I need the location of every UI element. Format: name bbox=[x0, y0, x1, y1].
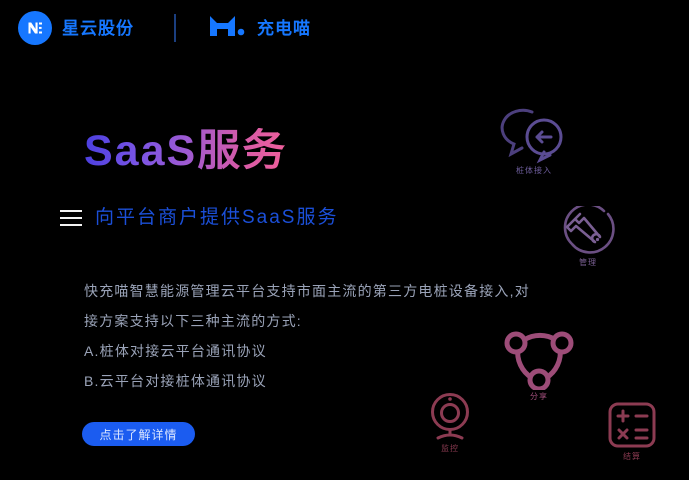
decoration-label: 结算 bbox=[623, 453, 641, 461]
brand-xingyun[interactable]: 星云股份 bbox=[18, 11, 134, 45]
share-network-icon bbox=[500, 322, 578, 390]
header-bar: 星云股份 充电喵 bbox=[0, 0, 689, 56]
decoration-monitoring: 监控 bbox=[423, 390, 477, 453]
page-subtitle: 向平台商户提供SaaS服务 bbox=[95, 208, 338, 227]
hamburger-menu-icon bbox=[60, 210, 82, 226]
ne-monogram-circle-icon bbox=[18, 11, 52, 45]
decoration-chat-access: 桩体接入 bbox=[498, 104, 570, 175]
brand-chongdianmiao-label: 充电喵 bbox=[257, 20, 311, 37]
cat-face-icon bbox=[208, 14, 250, 42]
decoration-share: 分享 bbox=[500, 322, 578, 401]
decoration-label: 管理 bbox=[579, 259, 597, 267]
chat-bubbles-arrow-icon bbox=[498, 104, 570, 164]
brand-xingyun-label: 星云股份 bbox=[62, 20, 134, 37]
wrench-gear-icon bbox=[560, 206, 616, 256]
page-title: SaaS服务 bbox=[84, 128, 287, 175]
calculator-icon bbox=[606, 400, 658, 450]
brand-chongdianmiao[interactable]: 充电喵 bbox=[208, 14, 311, 42]
decoration-management: 管理 bbox=[560, 206, 616, 267]
decoration-settlement: 结算 bbox=[606, 400, 658, 461]
learn-more-button[interactable]: 点击了解详情 bbox=[82, 422, 195, 446]
decoration-label: 桩体接入 bbox=[516, 167, 552, 175]
header-divider bbox=[174, 14, 176, 42]
decoration-label: 监控 bbox=[441, 445, 459, 453]
subtitle-row: 向平台商户提供SaaS服务 bbox=[60, 208, 338, 227]
decoration-label: 分享 bbox=[530, 393, 548, 401]
body-line: 快充喵智慧能源管理云平台支持市面主流的第三方电桩设备接入,对 bbox=[84, 276, 584, 306]
page-root: 星云股份 充电喵 SaaS服务 向平台商户提供SaaS服务 快充喵智慧能源管理云… bbox=[0, 0, 689, 480]
camera-monitor-icon bbox=[423, 390, 477, 442]
